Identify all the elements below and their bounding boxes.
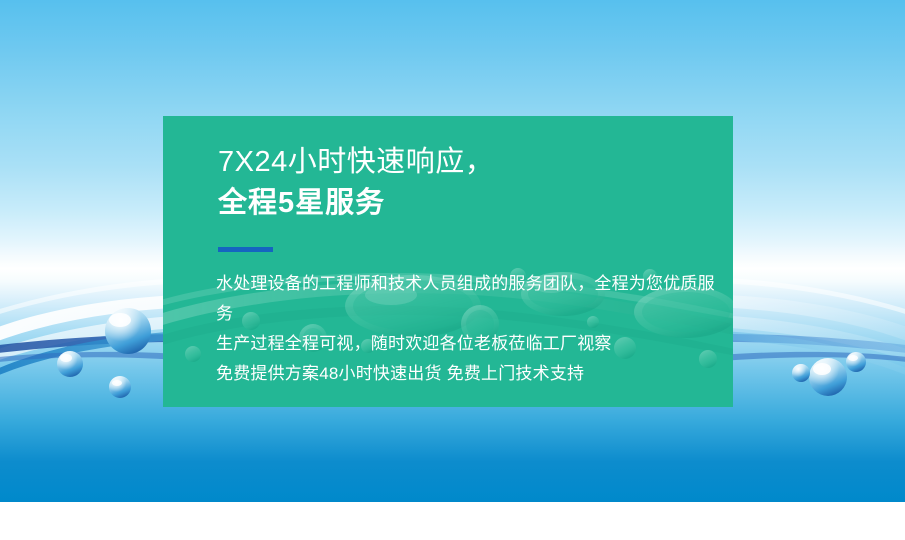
promotional-banner: 7X24小时快速响应， 全程5星服务 水处理设备的工程师和技术人员组成的服务团队… [0, 0, 905, 540]
content-panel: 7X24小时快速响应， 全程5星服务 水处理设备的工程师和技术人员组成的服务团队… [163, 116, 733, 407]
body-line-3: 免费提供方案48小时快速出货 免费上门技术支持 [216, 359, 721, 389]
headline-line-1: 7X24小时快速响应， [218, 142, 494, 183]
panel-body-text: 水处理设备的工程师和技术人员组成的服务团队，全程为您优质服务 生产过程全程可视，… [216, 269, 721, 389]
water-droplet-group-right [792, 352, 866, 396]
headline-line-2: 全程5星服务 [218, 183, 494, 224]
accent-divider [218, 247, 273, 252]
body-line-1: 水处理设备的工程师和技术人员组成的服务团队，全程为您优质服务 [216, 269, 721, 329]
panel-headline: 7X24小时快速响应， 全程5星服务 [218, 142, 494, 224]
body-line-2: 生产过程全程可视，随时欢迎各位老板莅临工厂视察 [216, 329, 721, 359]
